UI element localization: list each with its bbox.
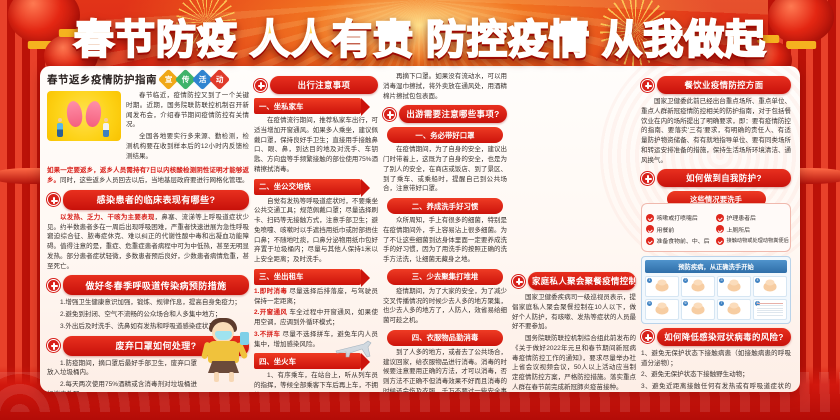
face-mask-icon xyxy=(215,331,232,340)
paragraph: 国家卫健委此前已经出台重点场所、重点单位、重点人群新冠疫情防控相关的防护指南，对… xyxy=(641,97,791,165)
tag-label: 传 xyxy=(182,74,190,85)
hands-icon xyxy=(656,282,669,291)
list-item: 2、避免无保护状态下接触野生动物； xyxy=(641,370,791,380)
disinfect-clothes-body: 到了人多的地方，或者去了公共场合，建议回家，给衣服物品进行消毒。消毒的时候要注意… xyxy=(383,348,507,392)
subsection-public-transit: 二、坐公交地铁 xyxy=(254,179,361,195)
column-one: 春节返乡疫情防护指南 宣 传 活 动 春节临近，疫情防控又到了一个关键时期。近期… xyxy=(47,72,249,386)
section-title: 餐饮业疫情防控方面 xyxy=(657,76,791,94)
lung-illustration xyxy=(47,91,121,141)
poster-step: 1 xyxy=(645,276,679,297)
paragraph: 众所周知，手上有很多的细菌，特别是在疫情期间外，手上容易沾上很多细菌。为了不让这… xyxy=(383,216,507,265)
clinical-symptoms-text: ，鼻塞、流涕等上呼吸道症状少见。约半数患者多在一周后出现呼吸困难，严重者快速进展… xyxy=(47,214,249,270)
check-icon xyxy=(646,225,654,233)
list-item: 护理患者后 xyxy=(716,213,786,222)
restaurant-control-body: 国家卫健委此前已经出台重点场所、重点单位、重点人群新冠疫情防控相关的防护指南，对… xyxy=(641,97,791,165)
step-number: 4 xyxy=(755,278,760,283)
checklist-grid: 咳嗽或打喷嚏后 护理患者后 用餐前 上厕所后 准备食物前、中、后 接触动物或处理… xyxy=(646,213,786,248)
column-one-heading: 春节返乡疫情防护指南 xyxy=(47,72,157,87)
handwashing-poster: 预防疾病，从正确洗手开始 1 2 3 4 5 6 7 8 xyxy=(641,256,791,324)
hands-icon xyxy=(692,305,705,314)
tag-dong: 动 xyxy=(209,69,230,90)
poster-step-grid: 1 2 3 4 5 6 7 8 xyxy=(645,276,787,320)
private-car-body: 在疫情流行期间，推荐私家车出行，可适当增加开窗通风。如果多人乘坐，建议佩戴口罩，… xyxy=(254,116,378,175)
trash-bin-icon xyxy=(240,332,249,345)
paragraph: 疫情期间，为了大家的安全，为了减少交叉传播情况的时候少去人多的地方聚集，也少去人… xyxy=(383,287,507,326)
medical-cross-icon xyxy=(47,279,60,292)
section-restaurant-control: 餐饮业疫情防控方面 xyxy=(641,76,791,94)
public-transit-body: 自觉有发热等呼吸道症状时，不要乘坐公共交通工具；规范佩戴口罩；尽量选择刷卡、扫码… xyxy=(254,197,378,265)
airplane-icon xyxy=(334,338,374,360)
list-item: 1、避免无保护状态下接触病患（如接触病患的呼吸道分泌物）； xyxy=(641,349,791,369)
subsection-avoid-crowds: 三、少去聚集打堆堆 xyxy=(387,269,504,285)
avoid-crowds-body: 疫情期间，为了大家的安全，为了减少交叉传播情况的时候少去人多的地方聚集，也少去人… xyxy=(383,287,507,326)
hands-icon xyxy=(764,282,777,291)
column-three-top-text: 再摘下口罩。如果没有流动水，可以用消毒湿巾擦拭，将外卖放在通风处，用酒精棉片擦拭… xyxy=(383,72,507,101)
intro-highlight-wrap: 如果一定要返乡，返乡人员需持有7日以内核酸检测阴性证明才能够返乡。同时，这些返乡… xyxy=(47,166,249,186)
wear-mask-body: 在疫情期间，为了自身的安全，建议出门时带着上，这既为了自身的安全，也是为了别人的… xyxy=(383,145,507,194)
medical-cross-icon xyxy=(641,330,654,343)
girl-illustration xyxy=(201,318,247,382)
section-family-gathering: 家庭私人聚会聚餐疫情控制方面 xyxy=(512,272,636,290)
mask-disposal-body: 1.防疫期间，摘口罩后最好手部卫生，废弃口罩放入垃圾桶内。 2.每天两次使用75… xyxy=(47,359,197,393)
list-item-label: 护理患者后 xyxy=(727,213,756,222)
poster-step: 3 xyxy=(717,276,751,297)
torso-shape xyxy=(208,341,239,363)
paragraph: 在疫情流行期间，推荐私家车出行，可适当增加开窗通风。如果多人乘坐，建议佩戴口罩，… xyxy=(254,116,378,175)
leg-shape xyxy=(229,372,234,382)
check-icon xyxy=(716,237,724,245)
subsection-private-car: 一、坐私家车 xyxy=(254,98,361,114)
list-item: 1.即时消毒 尽量选择后排落座，与驾驶员保持一定距离； xyxy=(254,287,378,307)
paragraph: 在疫情期间，为了自身的安全，建议出门时带着上，这既为了自身的安全，也是为了别人的… xyxy=(383,145,507,194)
section-title: 如何降低感染冠状病毒的风险? xyxy=(657,328,791,346)
poster-step: 2 xyxy=(681,276,715,297)
section-clinical-symptoms: 感染患者的临床表现有哪些? xyxy=(47,190,249,210)
skirt-shape xyxy=(208,361,239,373)
paragraph: 到了人多的地方，或者去了公共场合，建议回家，给衣服物品进行消毒。消毒的时候要注意… xyxy=(383,348,507,392)
paragraph: 国务院联防联控机制综合组此前发布的《关于做好2022年元旦和春节期间新冠病毒疫情… xyxy=(512,334,636,392)
section-title: 做好冬春季呼吸道传染病预防措施 xyxy=(63,275,249,295)
reduce-risk-body: 1、避免无保护状态下接触病患（如接触病患的呼吸道分泌物）； 2、避免无保护状态下… xyxy=(641,349,791,392)
poster-note: 8 xyxy=(753,299,787,320)
wash-hands-body: 众所周知，手上有很多的细菌，特别是在疫情期间外，手上容易沾上很多细菌。为了不让这… xyxy=(383,216,507,265)
poster-step: 6 xyxy=(681,299,715,320)
list-item: 准备食物前、中、后 xyxy=(646,236,716,245)
column-three: 再摘下口罩。如果没有流动水，可以用消毒湿巾擦拭，将外卖放在通风处，用酒精棉片擦拭… xyxy=(383,72,507,386)
tag-label: 宣 xyxy=(165,74,173,85)
check-icon xyxy=(716,225,724,233)
paragraph: 自觉有发热等呼吸道症状时，不要乘坐公共交通工具；规范佩戴口罩；尽量选择刷卡、扫码… xyxy=(254,197,378,265)
section-reduce-risk: 如何降低感染冠状病毒的风险? xyxy=(641,328,791,346)
list-item: 咳嗽或打喷嚏后 xyxy=(646,213,716,222)
tag-label: 动 xyxy=(216,74,224,85)
section-outing-notes: 出游需要注意哪些事项? xyxy=(383,105,507,123)
hands-icon xyxy=(692,282,705,291)
list-item: 上厕所后 xyxy=(716,225,786,234)
medical-cross-icon xyxy=(254,79,267,92)
clinical-symptoms-paragraph: 以发热、乏力、干咳为主要表现，鼻塞、流涕等上呼吸道症状少见。约半数患者多在一周后… xyxy=(47,213,249,272)
column-two: 出行注意事项 一、坐私家车 在疫情流行期间，推荐私家车出行，可适当增加开窗通风。… xyxy=(254,72,378,386)
list-item-label: 接触动物或处理动物粪便后 xyxy=(727,237,789,244)
intro-paragraph-1: 春节临近，疫情防控又到了一个关键时期。近期，国务院联防联控机制召开新闻发布会，介… xyxy=(126,91,249,130)
note-lines xyxy=(757,303,783,316)
handwash-checklist: 咳嗽或打喷嚏后 护理患者后 用餐前 上厕所后 准备食物前、中、后 接触动物或处理… xyxy=(641,203,791,252)
medical-cross-icon xyxy=(512,275,525,288)
subsection-taxi: 三、坐出租车 xyxy=(254,269,361,285)
list-item: 1、有序乘车，在站台上，听从列车员的指挥，等候全部乘客下车后再上车，不拥挤。 xyxy=(254,371,378,392)
family-gathering-body: 国家卫健委疾病司一级巡视员表示，提倡家庭私人聚会聚餐控制在10人以下，做好个人防… xyxy=(512,293,636,392)
medical-cross-icon xyxy=(47,193,60,206)
train-body: 1、有序乘车，在站台上，听从列车员的指挥，等候全部乘客下车后再上车，不拥挤。 2… xyxy=(254,371,378,392)
medical-cross-icon xyxy=(383,108,396,121)
hands-icon xyxy=(728,305,741,314)
list-item: 1.防疫期间，摘口罩后最好手部卫生，废弃口罩放入垃圾桶内。 xyxy=(47,359,197,379)
section-title: 感染患者的临床表现有哪些? xyxy=(63,190,249,210)
intro-paragraph-2: 全国各地要实行多来源、勤检测，检测机构要在收到样本后的12小时内反馈检测结果。 xyxy=(126,132,249,161)
section-title: 如何做到自我防护? xyxy=(657,169,791,187)
paragraph: 再摘下口罩。如果没有流动水，可以用消毒湿巾擦拭，将外卖放在通风处，用酒精棉片擦拭… xyxy=(383,72,507,101)
list-item-label: 准备食物前、中、后 xyxy=(657,236,710,245)
intro-paragraph-3: 同时，这些返乡人员回去以后，当地基层政府要进行网格化管理。 xyxy=(60,177,249,184)
list-item-highlight: 1.即时消毒 xyxy=(254,288,287,295)
intro-text: 春节临近，疫情防控又到了一个关键时期。近期，国务院联防联控机制召开新闻发布会，介… xyxy=(126,91,249,163)
step-number: 3 xyxy=(719,278,724,283)
leg-shape xyxy=(214,372,219,382)
doctor-figure-icon xyxy=(103,123,109,137)
poster-title-bar: 春节防疫 人人有责 防控疫情 从我做起 xyxy=(0,12,840,60)
tag-label: 活 xyxy=(199,74,207,85)
subsection-wear-mask: 一、务必带好口罩 xyxy=(387,127,504,143)
section-title: 家庭私人聚会聚餐疫情控制方面 xyxy=(528,272,636,290)
column-four: 家庭私人聚会聚餐疫情控制方面 国家卫健委疾病司一级巡视员表示，提倡家庭私人聚会聚… xyxy=(512,72,636,386)
section-title: 出行注意事项 xyxy=(270,76,378,94)
intro-text-continued: 如果一定要返乡，返乡人员需持有7日以内核酸检测阴性证明才能够返乡。同时，这些返乡… xyxy=(47,166,249,186)
person-figure-icon xyxy=(57,123,63,137)
list-item: 2.每天两次使用75%酒精或含消毒剂对垃圾桶进行消毒处理。 xyxy=(47,380,197,392)
subsection-disinfect-clothes: 四、衣服物品勤消毒 xyxy=(387,330,504,346)
step-number: 1 xyxy=(647,278,652,283)
section-title: 出游需要注意哪些事项? xyxy=(399,105,507,123)
hands-icon xyxy=(656,305,669,314)
clinical-symptoms-body: 以发热、乏力、干咳为主要表现，鼻塞、流涕等上呼吸道症状少见。约半数患者多在一周后… xyxy=(47,213,249,272)
column-one-header: 春节返乡疫情防护指南 宣 传 活 动 xyxy=(47,72,249,87)
list-item-label: 用餐前 xyxy=(657,225,675,234)
list-item: 3、避免近距离接触任何有发热或有呼吸道症状的人； xyxy=(641,382,791,392)
clinical-symptoms-highlight: 以发热、乏力、干咳为主要表现 xyxy=(60,214,155,221)
activity-tags: 宣 传 活 动 xyxy=(161,72,227,87)
lungs-icon xyxy=(67,101,101,127)
hands-icon xyxy=(728,282,741,291)
content-panel: 春节返乡疫情防护指南 宣 传 活 动 春节临近，疫情防控又到了一个关键时期。近期… xyxy=(40,66,800,392)
step-number: 6 xyxy=(683,301,688,306)
step-number: 5 xyxy=(647,301,652,306)
list-item-label: 咳嗽或打喷嚏后 xyxy=(657,213,698,222)
poster-title: 预防疾病，从正确洗手开始 xyxy=(645,260,787,273)
poster-step: 4 xyxy=(753,276,787,297)
column-five: 餐饮业疫情防控方面 国家卫健委此前已经出台重点场所、重点单位、重点人群新冠疫情防… xyxy=(641,72,791,386)
section-prevention-measures: 做好冬春季呼吸道传染病预防措施 xyxy=(47,275,249,295)
list-item: 用餐前 xyxy=(646,225,716,234)
poster-step: 5 xyxy=(645,299,679,320)
list-item: 接触动物或处理动物粪便后 xyxy=(716,236,786,245)
medical-cross-icon xyxy=(47,339,60,352)
check-icon xyxy=(716,214,724,222)
section-travel-notice: 出行注意事项 xyxy=(254,76,378,94)
list-item-label: 上厕所后 xyxy=(727,225,751,234)
list-item-highlight: 3.不拼车 xyxy=(254,331,280,338)
section-self-protection: 如何做到自我防护? xyxy=(641,169,791,187)
column-four-spacer xyxy=(512,72,636,268)
poster-title: 春节防疫 人人有责 防控疫情 从我做起 xyxy=(74,7,766,65)
step-number: 7 xyxy=(719,301,724,306)
list-item: 2.开窗通风 车全过程中开窗通风，如果使用空调，应调到外循环模式； xyxy=(254,308,378,328)
list-item-highlight: 2.开窗通风 xyxy=(254,309,287,316)
paragraph: 国家卫健委疾病司一级巡视员表示，提倡家庭私人聚会聚餐控制在10人以下，做好个人防… xyxy=(512,293,636,332)
step-number: 2 xyxy=(683,278,688,283)
medical-cross-icon xyxy=(641,172,654,185)
poster-step: 7 xyxy=(717,299,751,320)
check-icon xyxy=(646,237,654,245)
check-icon xyxy=(646,214,654,222)
intro-block: 春节临近，疫情防控又到了一个关键时期。近期，国务院联防联控机制召开新闻发布会，介… xyxy=(47,91,249,163)
medical-cross-icon xyxy=(641,79,654,92)
list-item: 1.增强卫生健康意识加强，锻炼、规律作息，提高自身免疫力； xyxy=(47,298,249,308)
subsection-wash-hands: 二、养成洗手好习惯 xyxy=(387,198,504,214)
